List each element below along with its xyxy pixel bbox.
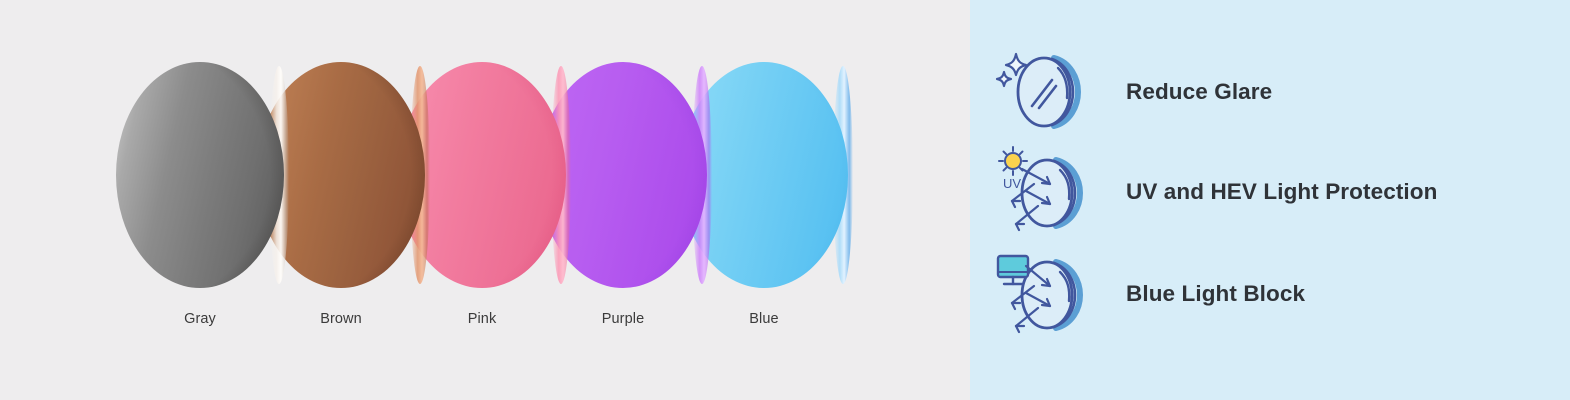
lens-inner-shadow [116, 62, 284, 288]
lens-label-gray: Gray [116, 311, 284, 327]
lens-swatch-gray[interactable]: Gray [116, 0, 316, 400]
uv-protection-icon: UV [992, 144, 1088, 240]
blue-light-block-icon [992, 246, 1088, 342]
feature-row-reduce-glare: Reduce Glare [992, 44, 1272, 140]
feature-label-uv-protection: UV and HEV Light Protection [1126, 179, 1437, 205]
feature-row-blue-light-block: Blue Light Block [992, 246, 1305, 342]
feature-list-panel: Reduce Glare [970, 0, 1570, 400]
lens-swatch-panel: GrayBrownPinkPurpleBlue [0, 0, 970, 400]
feature-row-uv-protection: UV UV and HEV Light Protection [992, 144, 1437, 240]
feature-label-reduce-glare: Reduce Glare [1126, 79, 1272, 105]
lens-gray[interactable] [116, 62, 284, 288]
feature-label-blue-light-block: Blue Light Block [1126, 281, 1305, 307]
reduce-glare-icon [992, 44, 1088, 140]
lens-swatch-row: GrayBrownPinkPurpleBlue [0, 0, 970, 400]
uv-text-label: UV [1003, 176, 1021, 191]
lens-color-feature-banner: GrayBrownPinkPurpleBlue Reduce Glare [0, 0, 1570, 400]
